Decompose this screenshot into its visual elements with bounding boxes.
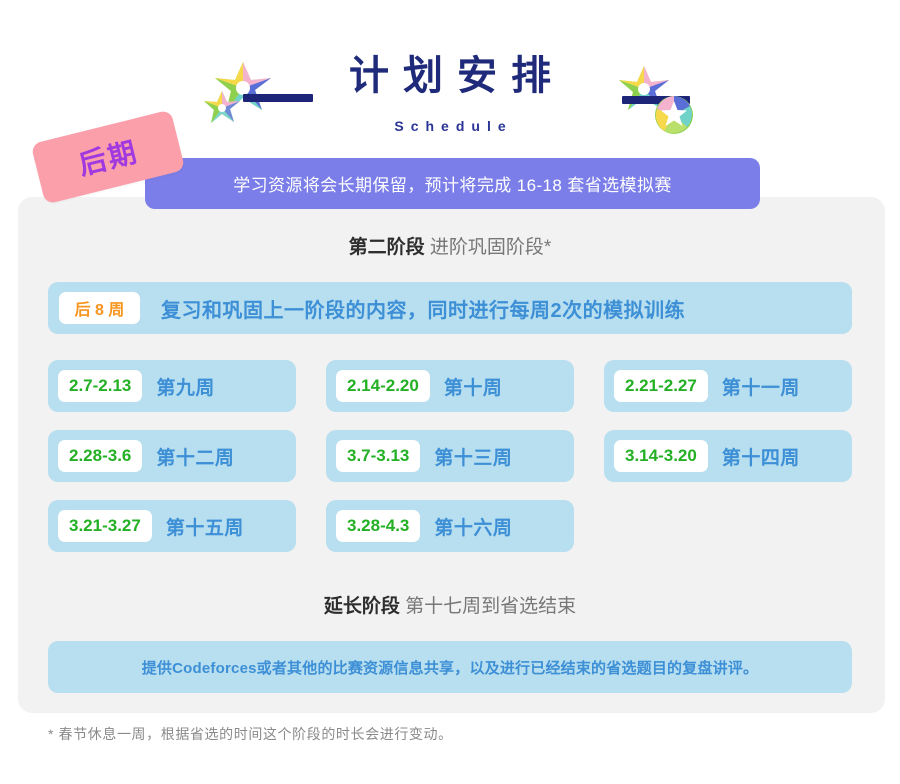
week-card[interactable]: 3.14-3.20 第十四周 xyxy=(604,430,852,482)
week-card[interactable]: 2.21-2.27 第十一周 xyxy=(604,360,852,412)
week-card[interactable]: 3.7-3.13 第十三周 xyxy=(326,430,574,482)
week-date: 2.7-2.13 xyxy=(58,370,142,402)
stage-heading-bold: 第二阶段 xyxy=(349,237,425,258)
week-label: 第十一周 xyxy=(722,373,800,400)
extension-bar: 提供Codeforces或者其他的比赛资源信息共享，以及进行已经结束的省选题目的… xyxy=(48,641,852,693)
week-card[interactable]: 3.28-4.3 第十六周 xyxy=(326,500,574,552)
page-title-cn: 计划安排 xyxy=(335,56,565,96)
week-label: 第十周 xyxy=(444,373,503,400)
week-card[interactable]: 3.21-3.27 第十五周 xyxy=(48,500,296,552)
week-date: 3.28-4.3 xyxy=(336,510,420,542)
extension-heading-bold: 延长阶段 xyxy=(324,596,400,617)
week-grid: 2.7-2.13 第九周 2.14-2.20 第十周 2.21-2.27 第十一… xyxy=(48,360,852,570)
notice-banner-text: 学习资源将会长期保留，预计将完成 16-18 套省选模拟赛 xyxy=(233,171,672,196)
extension-heading-rest: 第十七周到省选结束 xyxy=(400,596,576,617)
week-date: 2.14-2.20 xyxy=(336,370,430,402)
week-label: 第十六周 xyxy=(434,513,512,540)
page-header: 计划安排 Schedule xyxy=(0,22,900,132)
week-row: 2.7-2.13 第九周 2.14-2.20 第十周 2.21-2.27 第十一… xyxy=(48,360,852,412)
week-label: 第十四周 xyxy=(722,443,800,470)
week-card[interactable]: 2.14-2.20 第十周 xyxy=(326,360,574,412)
week-row: 3.21-3.27 第十五周 3.28-4.3 第十六周 xyxy=(48,500,852,552)
week-row: 2.28-3.6 第十二周 3.7-3.13 第十三周 3.14-3.20 第十… xyxy=(48,430,852,482)
week-label: 第十二周 xyxy=(156,443,234,470)
stage-summary-bar: 后 8 周 复习和巩固上一阶段的内容，同时进行每周2次的模拟训练 xyxy=(48,282,852,334)
extension-heading: 延长阶段 第十七周到省选结束 xyxy=(0,591,900,618)
week-card[interactable]: 2.28-3.6 第十二周 xyxy=(48,430,296,482)
week-date: 3.7-3.13 xyxy=(336,440,420,472)
stage-heading: 第二阶段 进阶巩固阶段* xyxy=(0,232,900,259)
week-label: 第十五周 xyxy=(166,513,244,540)
week-label: 第九周 xyxy=(156,373,215,400)
week-date: 3.21-3.27 xyxy=(58,510,152,542)
stage-summary-pill: 后 8 周 xyxy=(59,292,140,324)
page-title: 计划安排 xyxy=(0,56,900,96)
week-label: 第十三周 xyxy=(434,443,512,470)
week-date: 2.21-2.27 xyxy=(614,370,708,402)
extension-bar-text: 提供Codeforces或者其他的比赛资源信息共享，以及进行已经结束的省选题目的… xyxy=(142,657,759,678)
week-card[interactable]: 2.7-2.13 第九周 xyxy=(48,360,296,412)
stage-heading-rest: 进阶巩固阶段* xyxy=(425,237,552,258)
footnote: * 春节休息一周，根据省选的时间这个阶段的时长会进行变动。 xyxy=(48,724,453,744)
stage-summary-text: 复习和巩固上一阶段的内容，同时进行每周2次的模拟训练 xyxy=(161,294,685,323)
week-date: 3.14-3.20 xyxy=(614,440,708,472)
week-date: 2.28-3.6 xyxy=(58,440,142,472)
notice-banner: 学习资源将会长期保留，预计将完成 16-18 套省选模拟赛 xyxy=(145,158,760,209)
